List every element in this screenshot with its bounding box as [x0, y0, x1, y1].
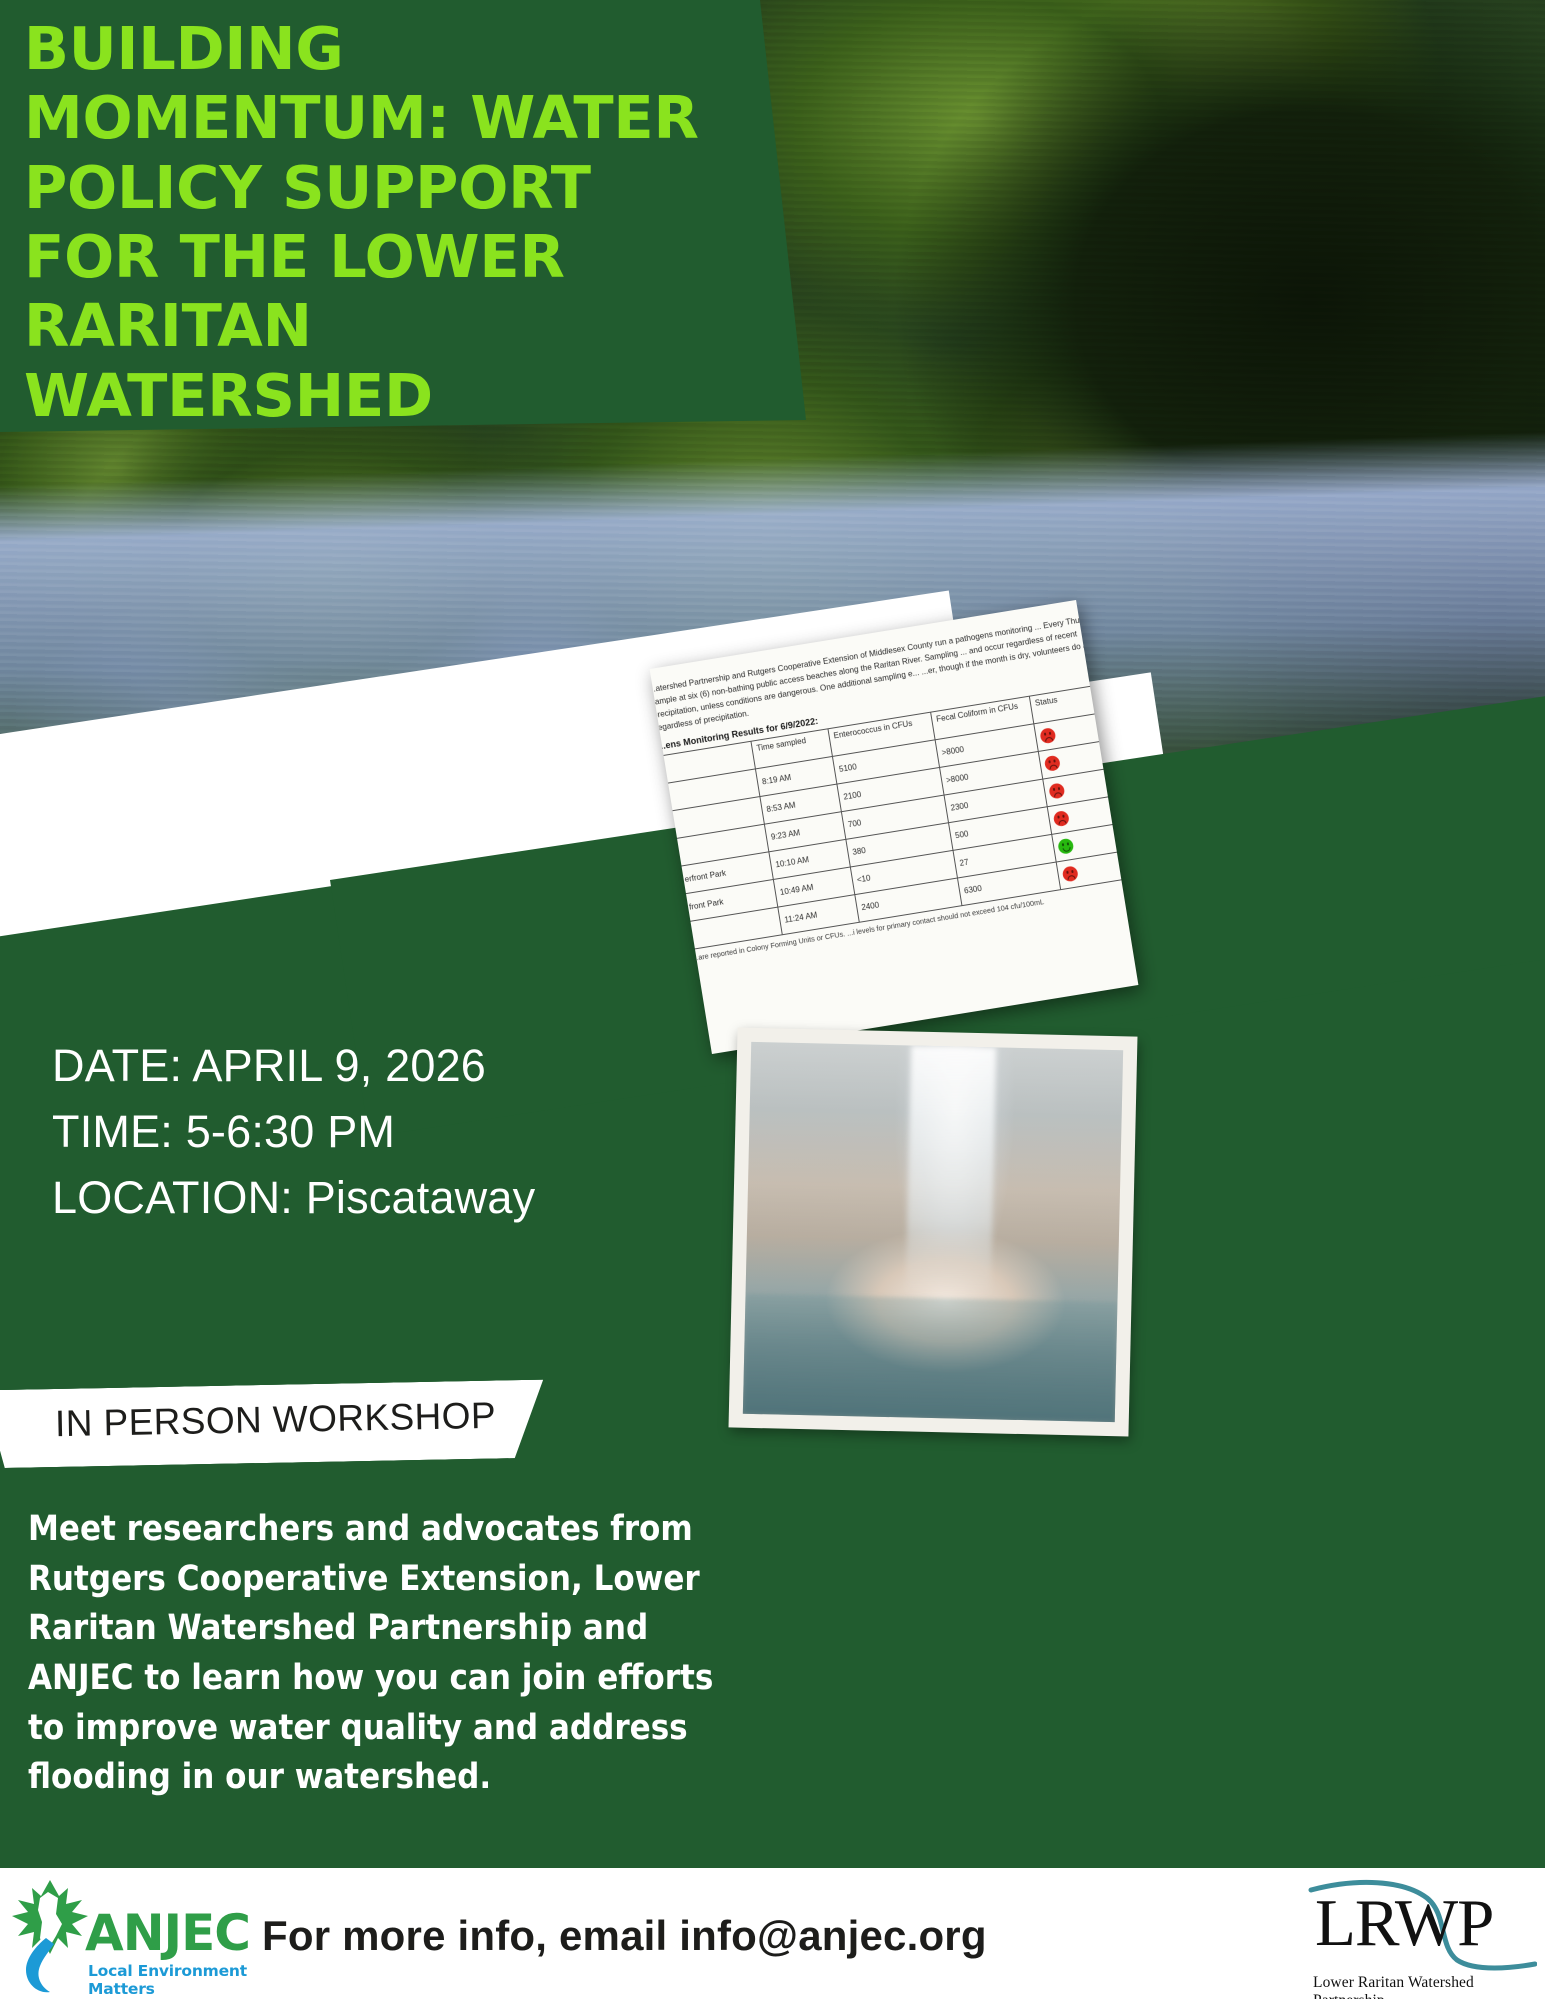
event-flyer: BUILDING MOMENTUM: WATER POLICY SUPPORT …: [0, 0, 1545, 1999]
event-details: DATE: APRIL 9, 2026 TIME: 5-6:30 PM LOCA…: [52, 1033, 535, 1231]
sad-face-icon: [1044, 755, 1061, 772]
lrwp-wordmark: LRWP: [1315, 1890, 1493, 1957]
face-mouth: [1067, 875, 1076, 880]
workshop-banner-label: IN PERSON WORKSHOP: [55, 1395, 497, 1445]
workshop-description: Meet researchers and advocates from Rutg…: [28, 1505, 733, 1803]
contact-cta: For more info, email info@anjec.org: [262, 1912, 987, 1960]
face-mouth: [1062, 847, 1071, 852]
anjec-wordmark: ANJEC: [85, 1904, 250, 1962]
page-title: BUILDING MOMENTUM: WATER POLICY SUPPORT …: [24, 14, 724, 430]
face-mouth: [1058, 820, 1067, 825]
sad-face-icon: [1062, 866, 1079, 883]
face-mouth: [1053, 792, 1062, 797]
monitoring-results-table: Time sampled Enterococcus in CFUs Fecal …: [660, 684, 1135, 950]
sad-face-icon: [1039, 728, 1056, 745]
monitoring-results-document: ...atershed Partnership and Rutgers Coop…: [650, 600, 1139, 1054]
happy-face-icon: [1057, 838, 1074, 855]
hands-water-photo-frame: [729, 1028, 1138, 1437]
sad-face-icon: [1048, 783, 1065, 800]
anjec-logo: ANJEC Local Environment Matters: [10, 1876, 250, 1994]
face-mouth: [1044, 737, 1053, 742]
event-location: LOCATION: Piscataway: [52, 1165, 535, 1231]
face-mouth: [1049, 764, 1058, 769]
hands-water-photo: [743, 1042, 1123, 1422]
footer-bar: ANJEC Local Environment Matters For more…: [0, 1868, 1545, 1999]
event-date: DATE: APRIL 9, 2026: [52, 1033, 535, 1099]
event-time: TIME: 5-6:30 PM: [52, 1099, 535, 1165]
sad-face-icon: [1053, 810, 1070, 827]
anjec-leaf-state-icon: [10, 1876, 90, 1994]
anjec-tagline: Local Environment Matters: [88, 1962, 250, 1998]
lrwp-logo: LRWP Lower Raritan Watershed Partnership: [1307, 1874, 1537, 1994]
lrwp-tagline: Lower Raritan Watershed Partnership: [1313, 1974, 1537, 1999]
document-paper: ...atershed Partnership and Rutgers Coop…: [650, 600, 1139, 1054]
